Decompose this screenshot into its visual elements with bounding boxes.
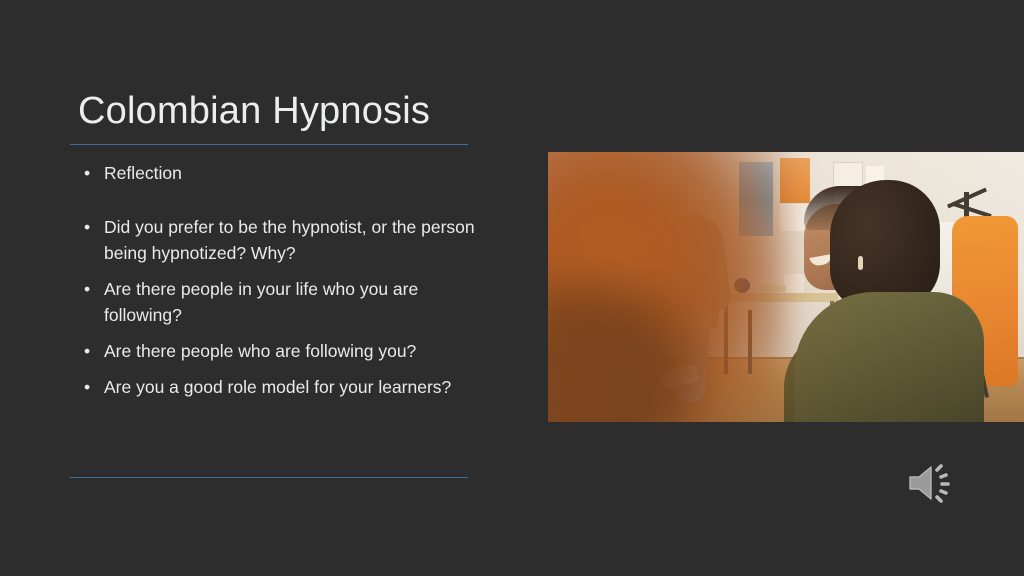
list-item: • Are you a good role model for your lea… bbox=[78, 374, 478, 400]
list-item: • Are there people in your life who you … bbox=[78, 276, 478, 328]
bullet-marker-icon: • bbox=[84, 374, 90, 400]
list-item-label: Did you prefer to be the hypnotist, or t… bbox=[104, 217, 475, 263]
bullet-list: • Reflection • Did you prefer to be the … bbox=[78, 160, 478, 410]
list-item: • Are there people who are following you… bbox=[78, 338, 478, 364]
title-divider bbox=[70, 144, 468, 145]
slide-canvas: Colombian Hypnosis • Reflection • Did yo… bbox=[0, 0, 1024, 576]
list-item-label: Are there people in your life who you ar… bbox=[104, 279, 418, 325]
bottom-divider bbox=[70, 477, 468, 478]
list-item-label: Are you a good role model for your learn… bbox=[104, 377, 451, 397]
bullet-marker-icon: • bbox=[84, 214, 90, 240]
classroom-photo bbox=[548, 152, 1024, 422]
bullet-marker-icon: • bbox=[84, 160, 90, 186]
page-title: Colombian Hypnosis bbox=[78, 88, 498, 134]
list-item: • Did you prefer to be the hypnotist, or… bbox=[78, 214, 478, 266]
list-item-label: Reflection bbox=[104, 163, 182, 183]
bullet-marker-icon: • bbox=[84, 338, 90, 364]
bullet-marker-icon: • bbox=[84, 276, 90, 302]
list-item-label: Are there people who are following you? bbox=[104, 341, 416, 361]
list-item: • Reflection bbox=[78, 160, 478, 186]
speaker-icon[interactable] bbox=[906, 460, 958, 506]
